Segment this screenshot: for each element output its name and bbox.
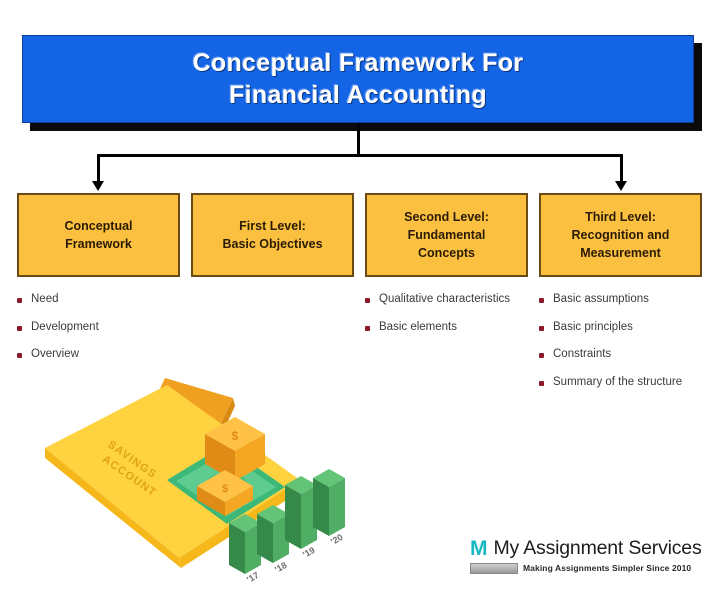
connector-drop-right	[620, 154, 623, 182]
bullet-dot-icon	[17, 326, 22, 331]
box-label: Third Level: Recognition and Measurement	[566, 208, 676, 262]
connector-drop-left	[97, 154, 100, 182]
brand-logo[interactable]: M My Assignment Services Making Assignme…	[470, 538, 710, 586]
bullet-item: Need	[17, 292, 187, 308]
coin-symbol: $	[222, 483, 228, 495]
box-second-level[interactable]: Second Level: Fundamental Concepts	[365, 193, 528, 277]
bullet-item: Basic elements	[365, 320, 535, 336]
box-label-line: Framework	[64, 235, 132, 253]
box-label-line: Recognition and	[572, 226, 670, 244]
savings-illustration: SAVINGS ACCOUNT $	[45, 368, 400, 593]
connector-stem	[357, 123, 360, 156]
brand-m-icon: M	[470, 538, 487, 559]
bullet-label: Need	[31, 292, 59, 308]
bullet-dot-icon	[17, 353, 22, 358]
bullet-label: Basic principles	[553, 320, 633, 336]
brand-logo-primary: M My Assignment Services	[470, 538, 710, 559]
bullet-dot-icon	[539, 353, 544, 358]
bullet-list-conceptual-framework: NeedDevelopmentOverview	[17, 292, 187, 375]
box-label-line: Measurement	[572, 244, 670, 262]
box-third-level[interactable]: Third Level: Recognition and Measurement	[539, 193, 702, 277]
bullet-item: Basic assumptions	[539, 292, 709, 308]
bullet-dot-icon	[365, 298, 370, 303]
bullet-label: Summary of the structure	[553, 375, 682, 391]
bullet-item: Summary of the structure	[539, 375, 709, 391]
arrowhead-right-icon	[615, 181, 627, 191]
bullet-dot-icon	[17, 298, 22, 303]
bullet-item: Constraints	[539, 347, 709, 363]
page-title: Conceptual Framework For Financial Accou…	[183, 47, 534, 111]
box-label: Conceptual Framework	[58, 217, 138, 253]
box-label: Second Level: Fundamental Concepts	[398, 208, 495, 262]
box-conceptual-framework[interactable]: Conceptual Framework	[17, 193, 180, 277]
bullet-list-third-level: Basic assumptionsBasic principlesConstra…	[539, 292, 709, 402]
box-label: First Level: Basic Objectives	[216, 217, 328, 253]
bullet-dot-icon	[539, 381, 544, 386]
arrowhead-left-icon	[92, 181, 104, 191]
bullet-dot-icon	[539, 326, 544, 331]
bullet-item: Basic principles	[539, 320, 709, 336]
title-banner: Conceptual Framework For Financial Accou…	[22, 35, 694, 123]
bullet-list-second-level: Qualitative characteristicsBasic element…	[365, 292, 535, 347]
bullet-item: Overview	[17, 347, 187, 363]
bullet-label: Basic elements	[379, 320, 457, 336]
box-label-line: Third Level:	[572, 208, 670, 226]
bullet-label: Development	[31, 320, 99, 336]
brand-tagline: Making Assignments Simpler Since 2010	[523, 564, 691, 573]
box-label-line: Concepts	[404, 244, 489, 262]
coin-symbol: $	[232, 429, 239, 443]
diagram-canvas: Conceptual Framework For Financial Accou…	[0, 0, 720, 602]
bar-label: '18	[273, 560, 289, 575]
bullet-label: Qualitative characteristics	[379, 292, 510, 308]
bullet-label: Overview	[31, 347, 79, 363]
page-title-line-2: Financial Accounting	[193, 79, 524, 111]
box-label-line: First Level:	[222, 217, 322, 235]
connector-horizontal	[97, 154, 623, 157]
bullet-label: Constraints	[553, 347, 611, 363]
box-label-line: Basic Objectives	[222, 235, 322, 253]
box-label-line: Second Level:	[404, 208, 489, 226]
bullet-dot-icon	[365, 326, 370, 331]
savings-illustration-svg: SAVINGS ACCOUNT $	[45, 368, 400, 593]
bullet-item: Development	[17, 320, 187, 336]
box-first-level[interactable]: First Level: Basic Objectives	[191, 193, 354, 277]
brand-name: My Assignment Services	[494, 539, 702, 559]
bullet-label: Basic assumptions	[553, 292, 649, 308]
brand-chip-icon	[470, 563, 518, 574]
bullet-item: Qualitative characteristics	[365, 292, 535, 308]
box-label-line: Fundamental	[404, 226, 489, 244]
box-label-line: Conceptual	[64, 217, 132, 235]
brand-logo-secondary: Making Assignments Simpler Since 2010	[470, 563, 710, 574]
bullet-dot-icon	[539, 298, 544, 303]
page-title-line-1: Conceptual Framework For	[193, 47, 524, 79]
